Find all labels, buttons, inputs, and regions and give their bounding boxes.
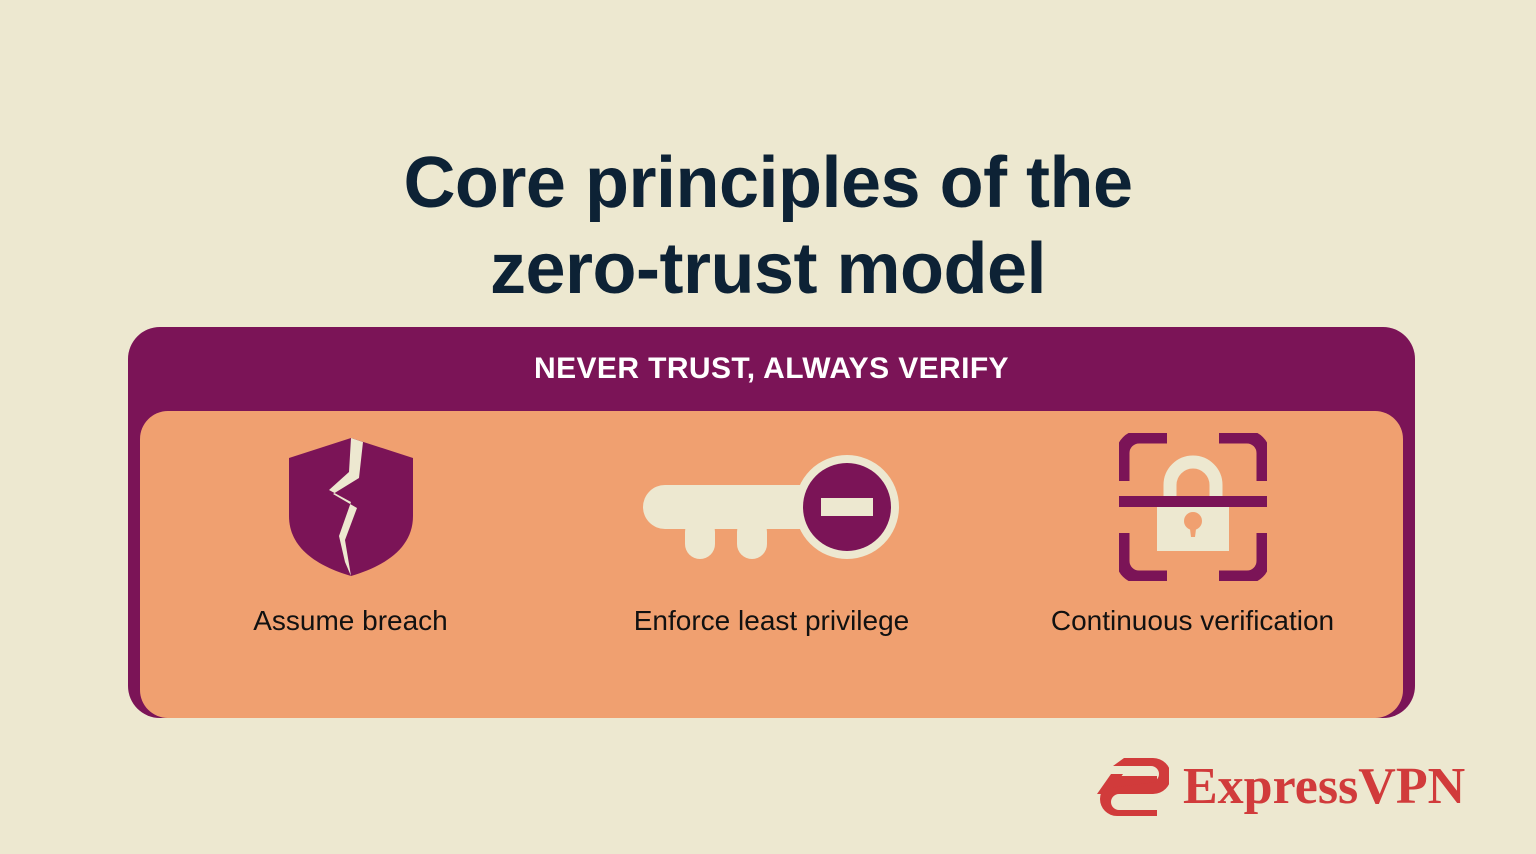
card-banner: NEVER TRUST, ALWAYS VERIFY <box>128 327 1415 411</box>
principle-item-assume-breach: Assume breach <box>140 411 561 718</box>
scan-lock-icon <box>1119 437 1267 577</box>
principle-label: Assume breach <box>253 605 448 637</box>
expressvpn-logo-text: ExpressVPN <box>1183 761 1465 813</box>
scan-lock-icon-column: Continuous verification <box>982 411 1403 718</box>
page-title: Core principles of the zero-trust model <box>0 140 1536 312</box>
page-title-line-1: Core principles of the <box>0 140 1536 226</box>
key-minus-icon <box>641 437 903 577</box>
infographic-canvas: Core principles of the zero-trust model … <box>0 0 1536 854</box>
card-banner-text: NEVER TRUST, ALWAYS VERIFY <box>534 352 1009 386</box>
expressvpn-logo: ExpressVPN <box>1097 752 1417 822</box>
principles-list: Assume breach <box>140 411 1403 718</box>
principle-label: Continuous verification <box>1051 605 1334 637</box>
principle-label: Enforce least privilege <box>634 605 909 637</box>
page-title-line-2: zero-trust model <box>0 226 1536 312</box>
card-panel: Assume breach <box>140 411 1403 718</box>
principles-card: NEVER TRUST, ALWAYS VERIFY Assume breach <box>128 327 1415 718</box>
principle-item-least-privilege: Enforce least privilege <box>561 411 982 718</box>
cracked-shield-icon <box>287 437 415 577</box>
expressvpn-logo-mark <box>1097 756 1169 818</box>
